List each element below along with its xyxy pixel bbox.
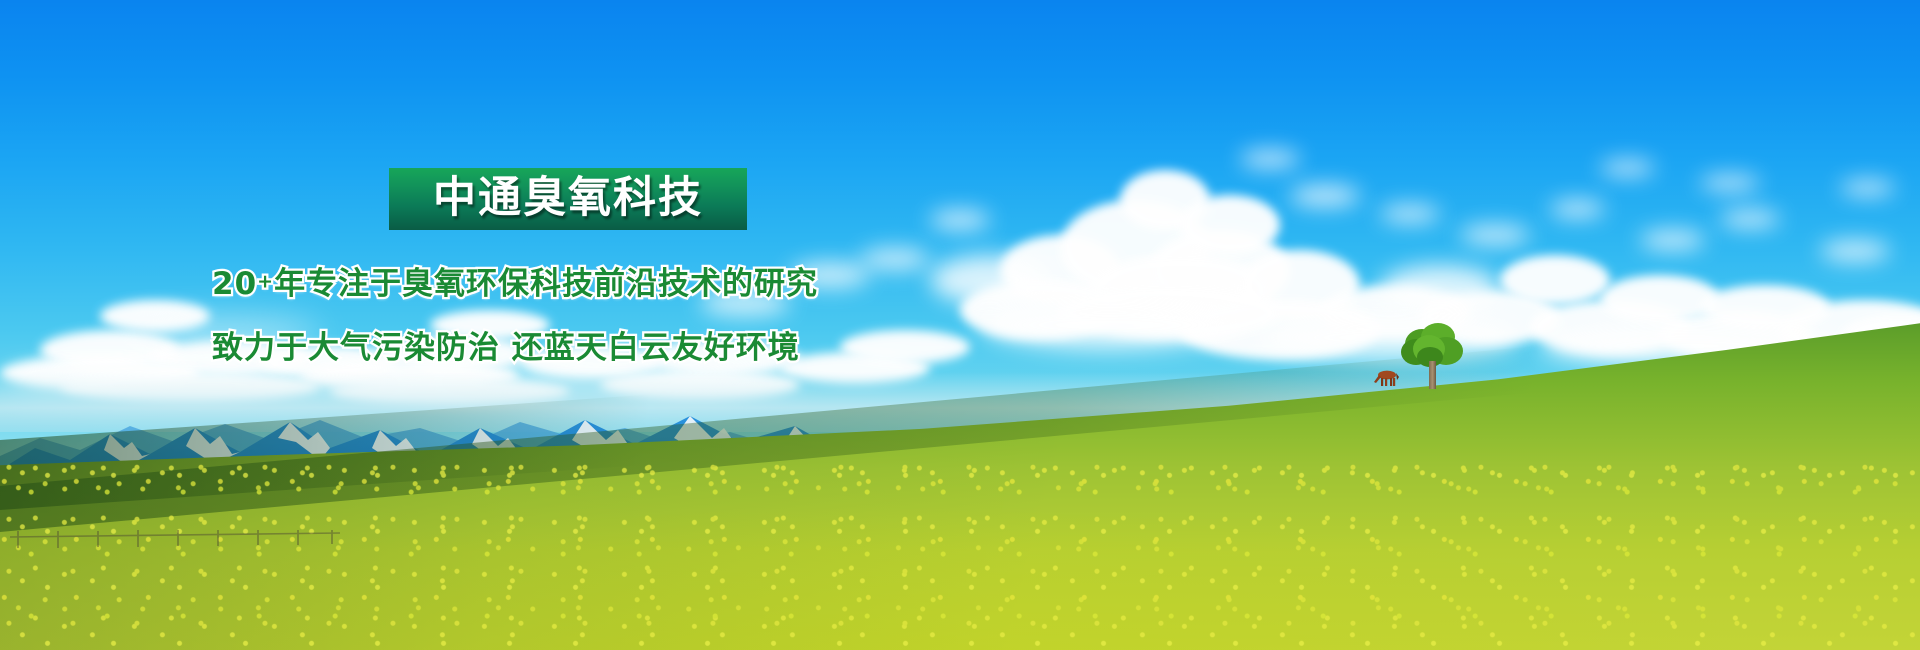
page-title: 中通臭氧科技	[433, 177, 703, 222]
tagline-1-superscript: +	[257, 271, 274, 293]
tagline-1-number: 20	[212, 266, 257, 302]
company-title-banner: 中通臭氧科技	[389, 168, 747, 230]
hero-text-overlay: 中通臭氧科技 20+年专注于臭氧环保科技前沿技术的研究 致力于大气污染防治 还蓝…	[0, 0, 1920, 650]
tagline-1-text: 年专注于臭氧环保科技前沿技术的研究	[274, 266, 818, 302]
tagline-1: 20+年专注于臭氧环保科技前沿技术的研究	[212, 258, 818, 303]
tagline-2-text: 致力于大气污染防治 还蓝天白云友好环境	[212, 330, 800, 366]
tagline-2: 致力于大气污染防治 还蓝天白云友好环境	[212, 322, 800, 367]
